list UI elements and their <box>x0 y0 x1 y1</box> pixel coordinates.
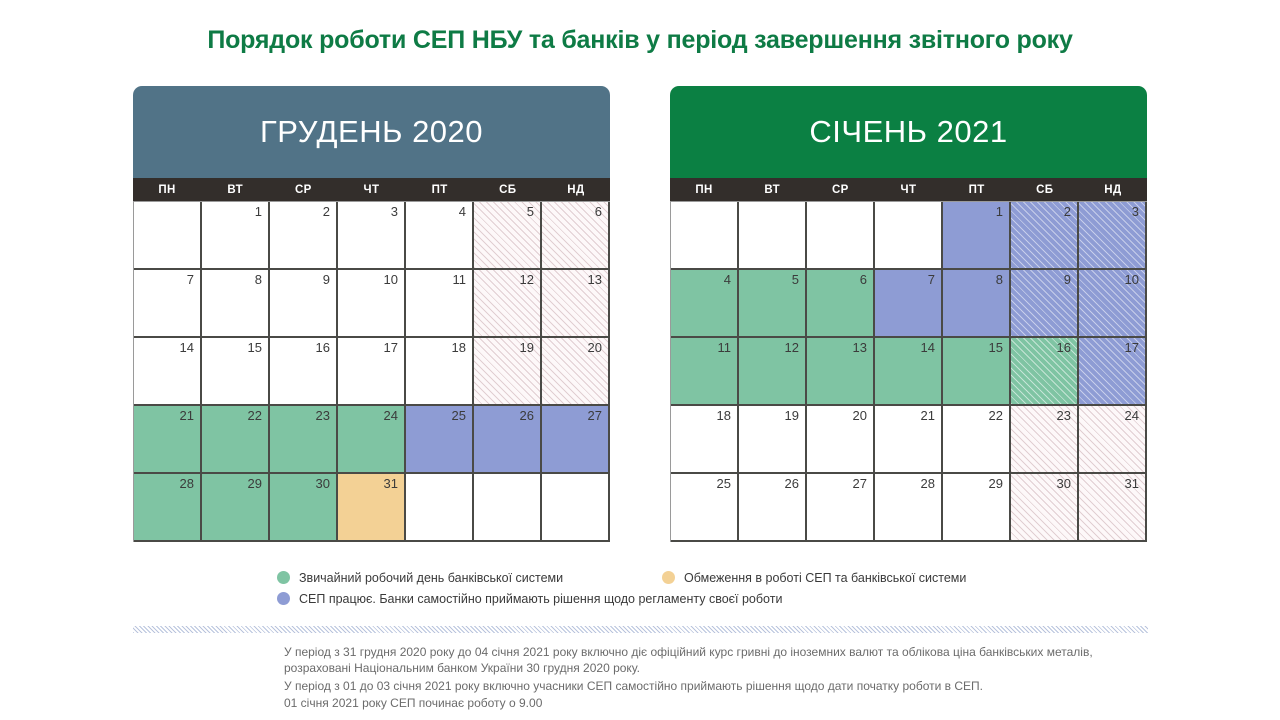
weekday-label-sat: СБ <box>474 178 542 201</box>
day-cell[interactable]: 27 <box>807 474 875 542</box>
day-number: 10 <box>384 273 398 287</box>
legend-label-workday: Звичайний робочий день банківської систе… <box>299 571 563 585</box>
hatched-divider <box>133 626 1148 633</box>
day-number: 30 <box>1057 477 1071 491</box>
day-cell[interactable]: 28 <box>134 474 202 542</box>
day-cell[interactable]: 18 <box>671 406 739 474</box>
footnotes: У період з 31 грудня 2020 року до 04 січ… <box>284 644 1144 713</box>
day-cell[interactable]: 22 <box>943 406 1011 474</box>
day-number: 27 <box>853 477 867 491</box>
weekday-header-row-january: ПН ВТ СР ЧТ ПТ СБ НД <box>670 178 1147 201</box>
legend-row-1: Звичайний робочий день банківської систе… <box>277 567 1037 588</box>
day-number: 8 <box>255 273 262 287</box>
day-grid-january: 1234567891011121314151617181920212223242… <box>670 201 1147 542</box>
legend-dot-orange-icon <box>662 571 675 584</box>
legend-row-2: СЕП працює. Банки самостійно приймають р… <box>277 588 1037 609</box>
day-number: 31 <box>1125 477 1139 491</box>
legend-dot-green-icon <box>277 571 290 584</box>
day-cell-empty <box>875 202 943 270</box>
day-number: 9 <box>323 273 330 287</box>
day-number: 22 <box>248 409 262 423</box>
day-number: 17 <box>384 341 398 355</box>
day-cell[interactable]: 2 <box>270 202 338 270</box>
day-cell[interactable]: 14 <box>134 338 202 406</box>
day-number: 20 <box>588 341 602 355</box>
day-number: 26 <box>520 409 534 423</box>
day-number: 22 <box>989 409 1003 423</box>
calendar-december: ГРУДЕНЬ 2020 ПН ВТ СР ЧТ ПТ СБ НД 123456… <box>133 86 610 542</box>
day-cell[interactable]: 20 <box>807 406 875 474</box>
day-cell[interactable]: 27 <box>542 406 610 474</box>
day-cell[interactable]: 25 <box>406 406 474 474</box>
day-cell[interactable]: 19 <box>474 338 542 406</box>
day-number: 5 <box>792 273 799 287</box>
weekday-label-mon: ПН <box>133 178 201 201</box>
day-cell[interactable]: 8 <box>202 270 270 338</box>
day-number: 28 <box>921 477 935 491</box>
day-cell[interactable]: 12 <box>474 270 542 338</box>
calendar-january-header: СІЧЕНЬ 2021 <box>670 86 1147 178</box>
day-number: 6 <box>860 273 867 287</box>
weekday-label-wed: СР <box>269 178 337 201</box>
day-cell[interactable]: 5 <box>739 270 807 338</box>
legend-label-sep-works: СЕП працює. Банки самостійно приймають р… <box>299 592 782 606</box>
day-cell[interactable]: 19 <box>739 406 807 474</box>
legend-item-sep-works: СЕП працює. Банки самостійно приймають р… <box>277 592 782 606</box>
weekday-header-row-december: ПН ВТ СР ЧТ ПТ СБ НД <box>133 178 610 201</box>
day-number: 31 <box>384 477 398 491</box>
legend: Звичайний робочий день банківської систе… <box>277 567 1037 609</box>
legend-item-limited: Обмеження в роботі СЕП та банківської си… <box>662 571 966 585</box>
day-cell[interactable]: 28 <box>875 474 943 542</box>
day-number: 13 <box>588 273 602 287</box>
day-number: 29 <box>989 477 1003 491</box>
day-cell[interactable]: 10 <box>338 270 406 338</box>
day-number: 16 <box>316 341 330 355</box>
day-number: 27 <box>588 409 602 423</box>
day-cell[interactable]: 1 <box>943 202 1011 270</box>
day-cell[interactable]: 17 <box>1079 338 1147 406</box>
day-cell[interactable]: 31 <box>1079 474 1147 542</box>
weekday-label-sun: НД <box>1079 178 1147 201</box>
day-number: 30 <box>316 477 330 491</box>
day-cell[interactable]: 6 <box>542 202 610 270</box>
day-number: 15 <box>989 341 1003 355</box>
day-cell[interactable]: 29 <box>202 474 270 542</box>
day-cell-empty <box>474 474 542 542</box>
day-cell[interactable]: 24 <box>338 406 406 474</box>
day-number: 20 <box>853 409 867 423</box>
day-number: 13 <box>853 341 867 355</box>
day-cell-empty <box>134 202 202 270</box>
day-cell[interactable]: 25 <box>671 474 739 542</box>
day-number: 1 <box>996 205 1003 219</box>
day-cell[interactable]: 18 <box>406 338 474 406</box>
day-cell[interactable]: 6 <box>807 270 875 338</box>
day-cell[interactable]: 12 <box>739 338 807 406</box>
day-number: 2 <box>1064 205 1071 219</box>
page-title: Порядок роботи СЕП НБУ та банків у періо… <box>0 26 1280 55</box>
day-number: 4 <box>724 273 731 287</box>
weekday-label-tue: ВТ <box>738 178 806 201</box>
day-number: 17 <box>1125 341 1139 355</box>
day-number: 18 <box>717 409 731 423</box>
calendar-january: СІЧЕНЬ 2021 ПН ВТ СР ЧТ ПТ СБ НД 1234567… <box>670 86 1147 542</box>
weekday-label-wed: СР <box>806 178 874 201</box>
day-cell[interactable]: 17 <box>338 338 406 406</box>
day-number: 24 <box>1125 409 1139 423</box>
weekday-label-mon: ПН <box>670 178 738 201</box>
footnote-2: У період з 01 до 03 січня 2021 року вклю… <box>284 678 1144 694</box>
day-cell-empty <box>671 202 739 270</box>
calendar-december-header: ГРУДЕНЬ 2020 <box>133 86 610 178</box>
day-number: 15 <box>248 341 262 355</box>
day-number: 6 <box>595 205 602 219</box>
weekday-label-fri: ПТ <box>406 178 474 201</box>
day-number: 4 <box>459 205 466 219</box>
day-number: 2 <box>323 205 330 219</box>
day-cell[interactable]: 24 <box>1079 406 1147 474</box>
day-number: 19 <box>520 341 534 355</box>
day-cell[interactable]: 21 <box>875 406 943 474</box>
day-number: 25 <box>717 477 731 491</box>
day-cell-empty <box>807 202 875 270</box>
day-cell[interactable]: 30 <box>270 474 338 542</box>
weekday-label-thu: ЧТ <box>874 178 942 201</box>
day-cell[interactable]: 23 <box>1011 406 1079 474</box>
day-number: 26 <box>785 477 799 491</box>
day-cell[interactable]: 1 <box>202 202 270 270</box>
day-cell[interactable]: 2 <box>1011 202 1079 270</box>
day-number: 23 <box>316 409 330 423</box>
day-cell-empty <box>739 202 807 270</box>
day-cell[interactable]: 4 <box>671 270 739 338</box>
day-cell[interactable]: 4 <box>406 202 474 270</box>
day-cell[interactable]: 3 <box>1079 202 1147 270</box>
day-cell[interactable]: 5 <box>474 202 542 270</box>
day-cell[interactable]: 21 <box>134 406 202 474</box>
day-number: 28 <box>180 477 194 491</box>
day-number: 18 <box>452 341 466 355</box>
day-cell-empty <box>542 474 610 542</box>
footnote-1: У період з 31 грудня 2020 року до 04 січ… <box>284 644 1144 677</box>
day-number: 10 <box>1125 273 1139 287</box>
day-cell[interactable]: 14 <box>875 338 943 406</box>
day-number: 12 <box>520 273 534 287</box>
day-number: 21 <box>921 409 935 423</box>
day-number: 5 <box>527 205 534 219</box>
day-grid-december: 1234567891011121314151617181920212223242… <box>133 201 610 542</box>
day-cell[interactable]: 26 <box>474 406 542 474</box>
day-cell[interactable]: 8 <box>943 270 1011 338</box>
weekday-label-sun: НД <box>542 178 610 201</box>
weekday-label-tue: ВТ <box>201 178 269 201</box>
day-number: 7 <box>187 273 194 287</box>
day-cell[interactable]: 23 <box>270 406 338 474</box>
day-number: 19 <box>785 409 799 423</box>
day-cell[interactable]: 30 <box>1011 474 1079 542</box>
day-cell[interactable]: 7 <box>875 270 943 338</box>
day-number: 16 <box>1057 341 1071 355</box>
weekday-label-thu: ЧТ <box>337 178 405 201</box>
day-cell[interactable]: 16 <box>270 338 338 406</box>
day-number: 12 <box>785 341 799 355</box>
day-number: 1 <box>255 205 262 219</box>
day-cell[interactable]: 16 <box>1011 338 1079 406</box>
day-cell[interactable]: 26 <box>739 474 807 542</box>
day-cell[interactable]: 3 <box>338 202 406 270</box>
day-cell-empty <box>406 474 474 542</box>
day-number: 23 <box>1057 409 1071 423</box>
day-cell[interactable]: 11 <box>406 270 474 338</box>
day-cell[interactable]: 15 <box>943 338 1011 406</box>
legend-dot-blue-icon <box>277 592 290 605</box>
day-number: 14 <box>180 341 194 355</box>
day-cell[interactable]: 9 <box>270 270 338 338</box>
day-number: 3 <box>391 205 398 219</box>
day-cell[interactable]: 10 <box>1079 270 1147 338</box>
footnote-3: 01 січня 2021 року СЕП починає роботу о … <box>284 695 1144 711</box>
day-number: 24 <box>384 409 398 423</box>
weekday-label-fri: ПТ <box>943 178 1011 201</box>
day-number: 11 <box>453 273 467 287</box>
day-number: 14 <box>921 341 935 355</box>
day-number: 8 <box>996 273 1003 287</box>
day-cell[interactable]: 29 <box>943 474 1011 542</box>
legend-label-limited: Обмеження в роботі СЕП та банківської си… <box>684 571 966 585</box>
day-cell[interactable]: 13 <box>807 338 875 406</box>
day-cell[interactable]: 15 <box>202 338 270 406</box>
day-number: 21 <box>180 409 194 423</box>
day-number: 9 <box>1064 273 1071 287</box>
day-cell[interactable]: 9 <box>1011 270 1079 338</box>
day-cell[interactable]: 22 <box>202 406 270 474</box>
day-number: 25 <box>452 409 466 423</box>
day-cell[interactable]: 11 <box>671 338 739 406</box>
day-number: 3 <box>1132 205 1139 219</box>
day-cell[interactable]: 31 <box>338 474 406 542</box>
day-cell[interactable]: 7 <box>134 270 202 338</box>
day-number: 29 <box>248 477 262 491</box>
day-cell[interactable]: 13 <box>542 270 610 338</box>
day-cell[interactable]: 20 <box>542 338 610 406</box>
day-number: 11 <box>718 341 732 355</box>
weekday-label-sat: СБ <box>1011 178 1079 201</box>
day-number: 7 <box>928 273 935 287</box>
legend-item-workday: Звичайний робочий день банківської систе… <box>277 571 662 585</box>
